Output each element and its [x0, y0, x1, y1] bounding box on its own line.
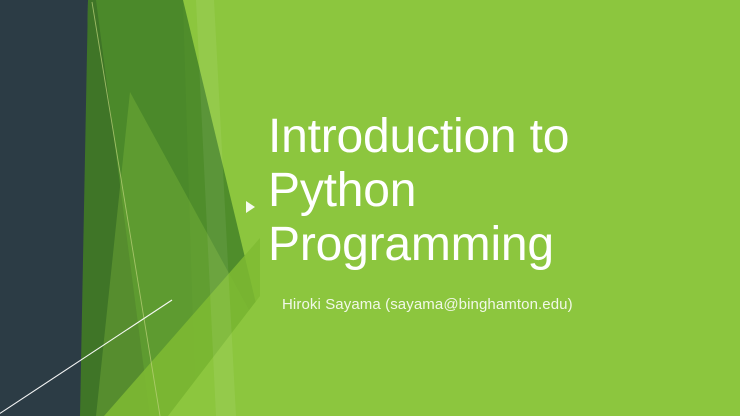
title-line-3: Programming — [268, 218, 708, 272]
navy-panel-shape — [0, 0, 88, 416]
slide-title: Introduction to Python Programming — [268, 110, 708, 272]
title-line-1: Introduction to — [268, 110, 708, 164]
triangle-right-bullet-icon — [246, 201, 255, 213]
facet-angular-polygons-graphic — [0, 0, 260, 416]
presentation-slide: Introduction to Python Programming Hirok… — [0, 0, 740, 416]
title-line-2: Python — [268, 164, 708, 218]
slide-subtitle: Hiroki Sayama (sayama@binghamton.edu) — [282, 295, 573, 315]
artwork-svg — [0, 0, 260, 416]
